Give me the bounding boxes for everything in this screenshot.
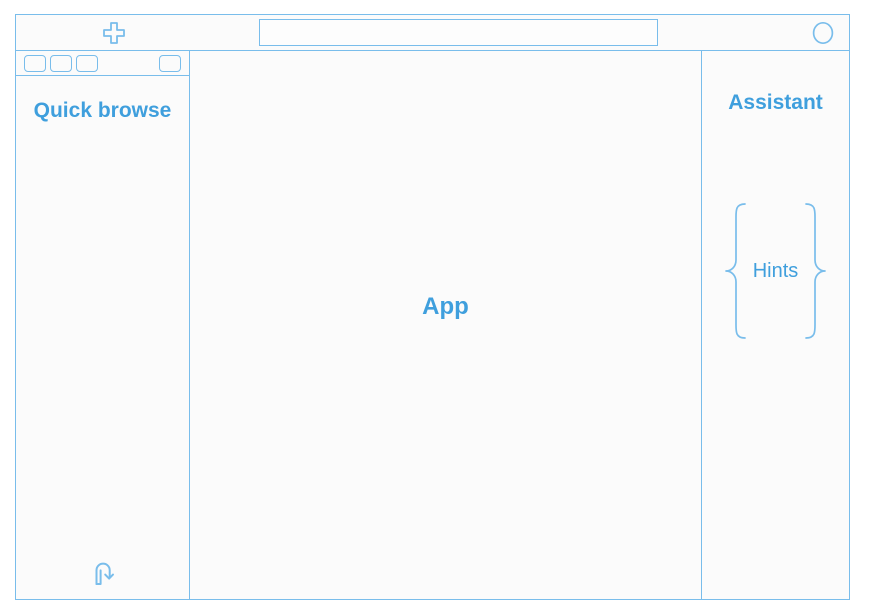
search-field[interactable] [259,19,658,46]
plus-icon [101,20,127,46]
assistant-title: Assistant [702,91,849,115]
sidebar-tool-3-button[interactable] [76,55,98,72]
app-title: App [422,293,469,321]
sidebar-toolbar-left-group [24,55,98,72]
hints-label: Hints [753,260,799,283]
sidebar-toolbar-right-group [159,55,181,72]
sidebar-footer [16,557,189,589]
circle-avatar-icon [811,21,835,45]
app-window-frame: Quick browse App [15,14,850,600]
header-bar [16,15,849,51]
u-turn-button[interactable] [88,557,120,589]
main-app-panel: App [190,51,702,599]
search-input[interactable] [260,20,657,45]
u-turn-arrow-icon [88,557,120,589]
sidebar-tool-4-button[interactable] [159,55,181,72]
sidebar-toolbar [16,51,189,76]
sidebar-content: Quick browse [16,76,189,599]
account-avatar-button[interactable] [811,21,835,45]
sidebar-tool-2-button[interactable] [50,55,72,72]
sidebar-tool-1-button[interactable] [24,55,46,72]
new-tab-button[interactable] [94,19,134,47]
right-curly-brace-icon [802,201,828,341]
hints-group: Hints [702,201,849,341]
body-columns: Quick browse App [16,51,849,599]
quick-browse-title: Quick browse [16,98,189,125]
left-curly-brace-icon [723,201,749,341]
assistant-panel: Assistant Hints [702,51,849,599]
sidebar-panel: Quick browse [16,51,190,599]
